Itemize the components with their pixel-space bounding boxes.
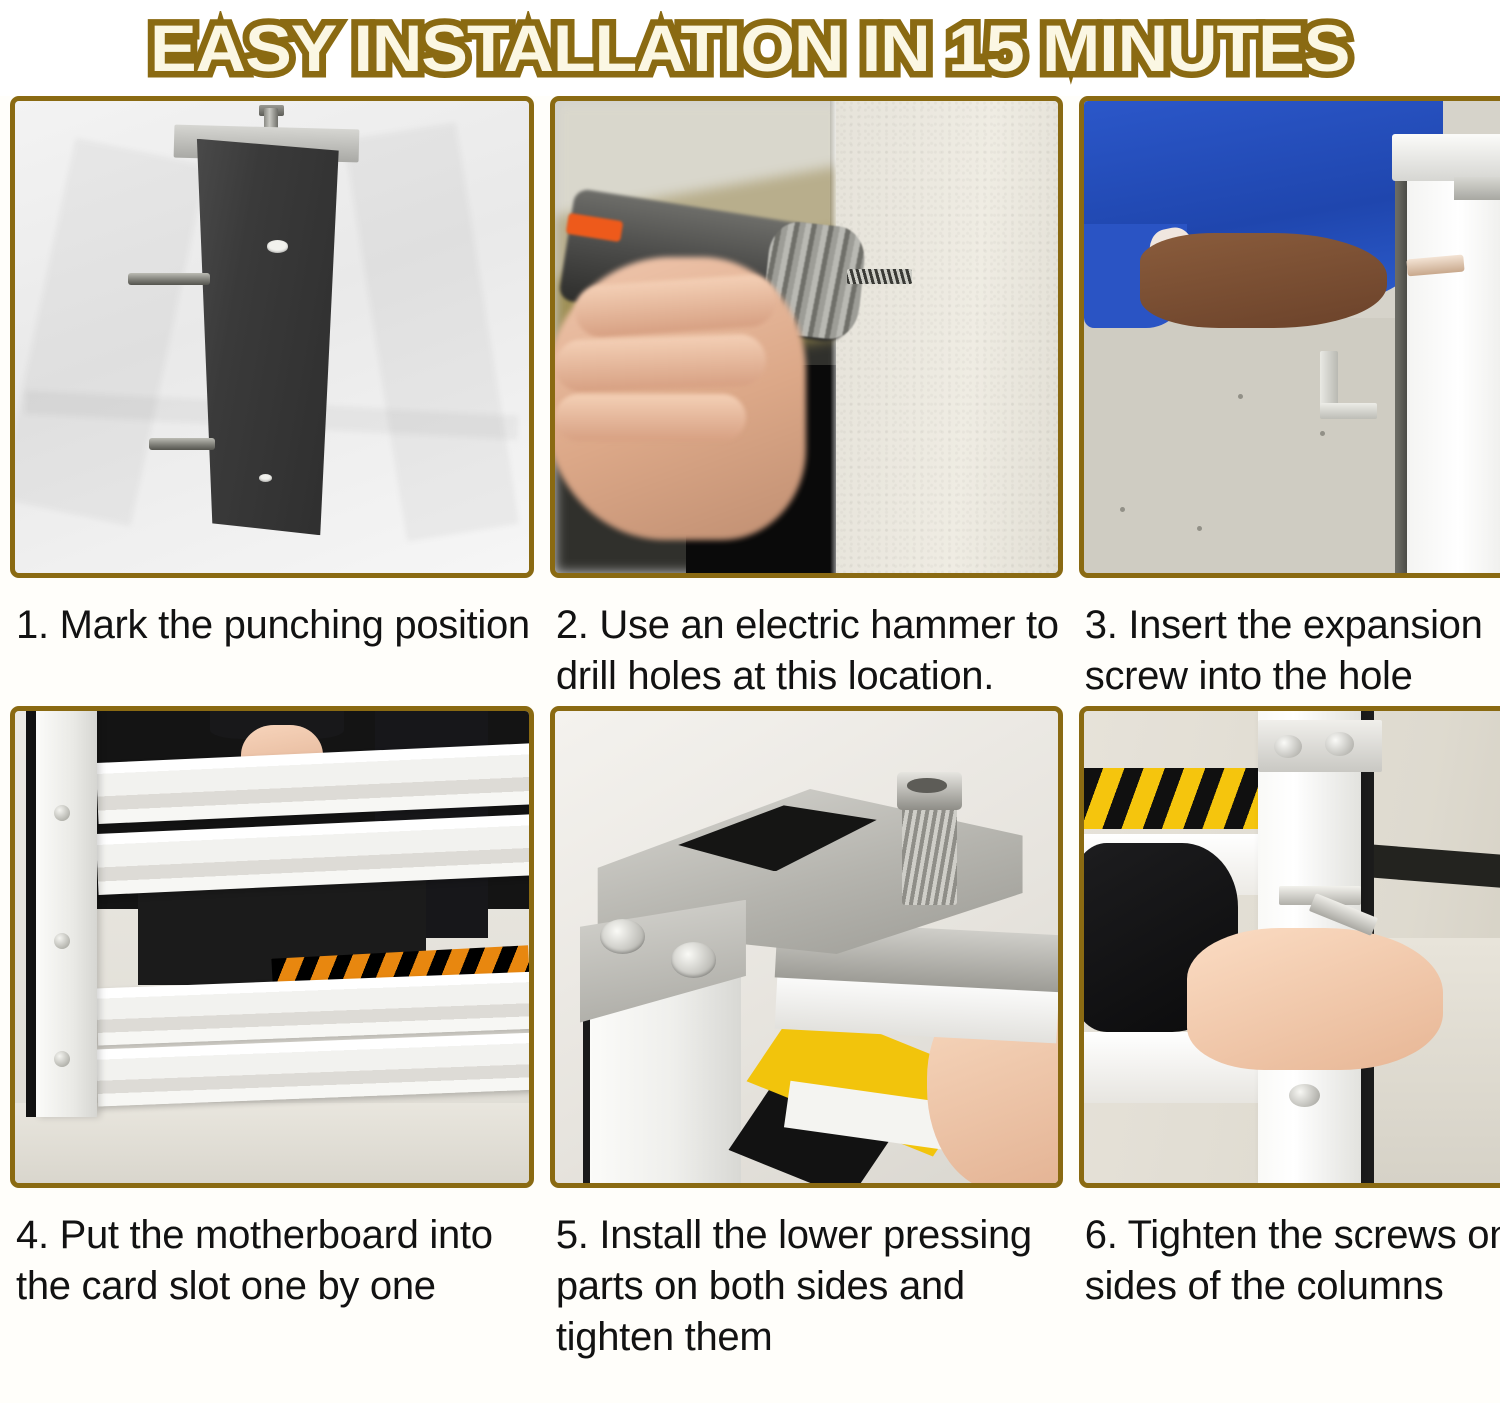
finger	[555, 394, 746, 441]
step-caption-4: 4. Put the motherboard into the card slo…	[10, 1188, 534, 1316]
step-card-1: 1. Mark the punching position	[10, 96, 534, 706]
caption-line: 6. Tighten the screws on both	[1085, 1210, 1500, 1261]
column-screw	[54, 933, 70, 949]
photo-mark-punching-position	[10, 96, 534, 578]
caption-line: parts on both sides and	[556, 1261, 1059, 1312]
photo-insert-expansion-screw	[1079, 96, 1500, 578]
finger	[554, 333, 767, 392]
step-caption-5: 5. Install the lower pressing parts on b…	[550, 1188, 1063, 1363]
photo-install-lower-pressing-parts	[550, 706, 1063, 1188]
marking-pin-upper	[128, 273, 210, 284]
thumb-bolt-socket	[907, 778, 947, 792]
worker-forearm	[1140, 233, 1387, 327]
step-card-2: 2. Use an electric hammer to drill holes…	[550, 96, 1063, 706]
step-card-5: 5. Install the lower pressing parts on b…	[550, 706, 1063, 1363]
installation-steps-grid: 1. Mark the punching position 2. Use an …	[0, 96, 1500, 1363]
hand-tightening-screw	[1187, 928, 1444, 1070]
textured-wall	[836, 101, 1057, 573]
caption-line: 4. Put the motherboard into	[16, 1210, 530, 1261]
marking-pin-lower	[149, 438, 216, 449]
photo-drill-holes	[550, 96, 1063, 578]
column-screw-right	[1325, 732, 1353, 756]
mounting-plate	[1454, 177, 1500, 201]
hazard-stripe-panel	[1084, 768, 1269, 829]
floor-speck	[1197, 526, 1202, 531]
floor-speck	[1120, 507, 1125, 512]
step-card-3: 3. Insert the expansion screw into the h…	[1079, 96, 1500, 706]
caption-line: sides of the columns	[1085, 1261, 1500, 1312]
column-screw-left	[1274, 735, 1302, 759]
column-top-plate	[1392, 134, 1500, 181]
step-card-4: 4. Put the motherboard into the card slo…	[10, 706, 534, 1363]
column-screw	[54, 1051, 70, 1067]
caption-line: screw into the hole	[1085, 651, 1500, 702]
bracket-screw	[671, 942, 716, 977]
white-column	[1407, 148, 1500, 573]
caption-line: 1. Mark the punching position	[16, 600, 530, 651]
header-banner: EASY INSTALLATION IN 15 MINUTES	[0, 0, 1500, 96]
drill-bit	[847, 269, 912, 284]
bracket-screw	[600, 919, 645, 954]
step-caption-6: 6. Tighten the screws on both sides of t…	[1079, 1188, 1500, 1316]
step-card-6: 6. Tighten the screws on both sides of t…	[1079, 706, 1500, 1363]
caption-line: 3. Insert the expansion	[1085, 600, 1500, 651]
mounting-hole-upper	[267, 240, 289, 252]
caption-line: the card slot one by one	[16, 1261, 530, 1312]
caption-line: tighten them	[556, 1312, 1059, 1363]
caption-line: 2. Use an electric hammer to	[556, 600, 1059, 651]
caption-line: 5. Install the lower pressing	[556, 1210, 1059, 1261]
photo-tighten-column-screws	[1079, 706, 1500, 1188]
step-caption-3: 3. Insert the expansion screw into the h…	[1079, 578, 1500, 706]
photo-insert-boards-into-slots	[10, 706, 534, 1188]
column-screw	[54, 805, 70, 821]
floor-speck	[1238, 394, 1243, 399]
allen-key-short-arm	[1320, 403, 1377, 419]
step-caption-1: 1. Mark the punching position	[10, 578, 534, 706]
step-caption-2: 2. Use an electric hammer to drill holes…	[550, 578, 1063, 706]
page-title: EASY INSTALLATION IN 15 MINUTES	[150, 13, 1349, 83]
caption-line: drill holes at this location.	[556, 651, 1059, 702]
